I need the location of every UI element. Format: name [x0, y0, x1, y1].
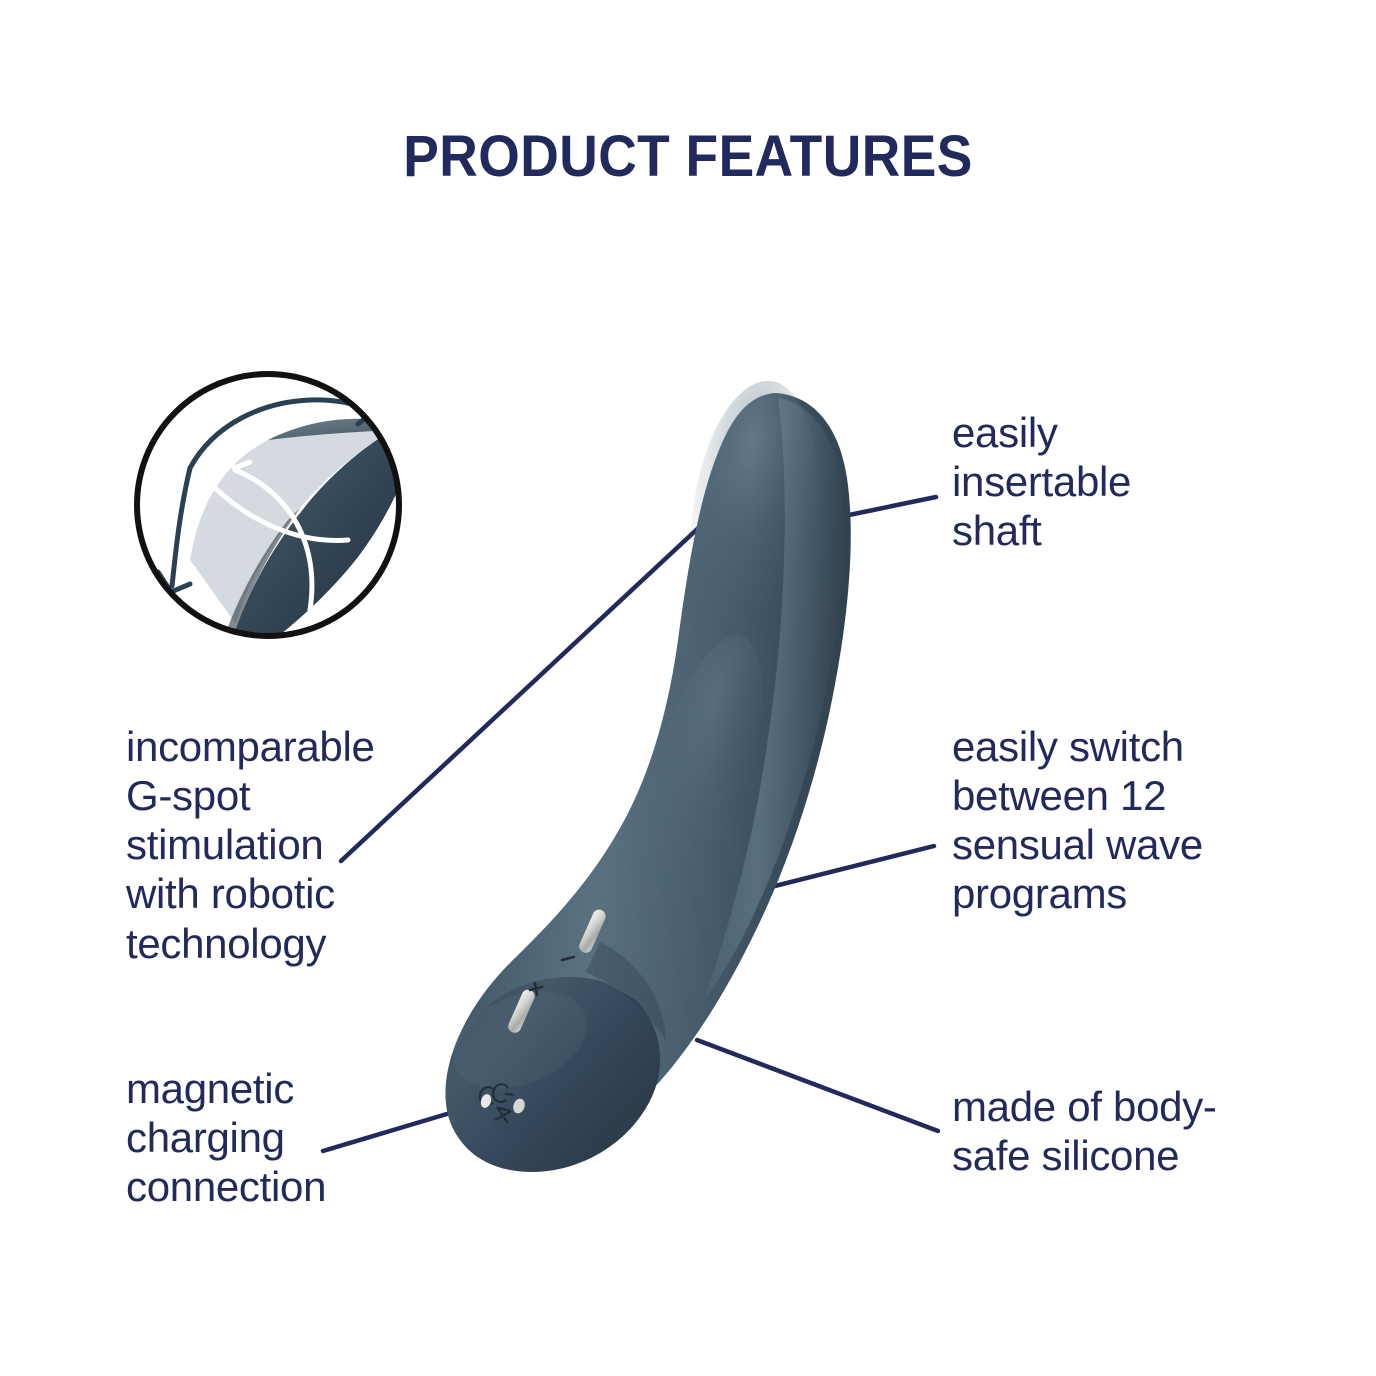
ce-mark-e: [491, 1082, 514, 1104]
sweep-arrow-down-head: [158, 572, 190, 592]
axis-motion-arrows: [192, 456, 348, 610]
product-base: [446, 977, 660, 1172]
minus-icon: [562, 957, 574, 960]
plus-icon-v: [535, 983, 537, 995]
product-shaft-highlight: [704, 398, 844, 1000]
leader-line-insertable-shaft: [820, 497, 936, 521]
callout-gspot-stimulation: incomparable G-spot stimulation with rob…: [126, 722, 456, 968]
plus-button[interactable]: [506, 988, 537, 1035]
charging-contact-left: [479, 1093, 493, 1109]
sweep-arrow-top-path: [190, 400, 372, 468]
callout-wave-programs: easily switch between 12 sensual wave pr…: [952, 722, 1282, 919]
callout-magnetic-charging: magnetic charging connection: [126, 1064, 436, 1211]
sweep-arrow-down-path: [172, 468, 190, 586]
axis-arrow-left-head: [192, 462, 218, 476]
infographic-canvas: PRODUCT FEATURES: [0, 0, 1376, 1376]
compliance-markings: [478, 1082, 515, 1122]
product-base-specular: [439, 973, 602, 1107]
control-button-labels: [530, 957, 574, 995]
leader-line-wave-programs: [600, 846, 934, 930]
tip-ghost-outline: [190, 419, 404, 624]
product-belly-specular: [613, 623, 788, 938]
control-buttons[interactable]: [506, 908, 608, 1035]
tip-edge-shadow: [212, 508, 300, 680]
minus-button[interactable]: [577, 908, 608, 955]
sweep-motion-arrows: [158, 396, 376, 592]
plus-icon-h: [530, 987, 542, 990]
waste-bin-icon: [495, 1108, 511, 1123]
callout-body-safe-silicone: made of body- safe silicone: [952, 1082, 1292, 1180]
leader-line-body-safe-silicone: [697, 1040, 938, 1131]
tip-solid-upper: [268, 419, 404, 440]
axis-arc-vertical: [235, 470, 312, 610]
sweep-arrow-top-head: [356, 396, 376, 424]
product-silhouette: [445, 393, 850, 1165]
robotic-tip-motion-detail: [136, 373, 418, 680]
axis-arc-horizontal: [202, 475, 348, 540]
product-tip-specular: [675, 373, 832, 666]
product-body: [439, 373, 851, 1172]
callout-insertable-shaft: easily insertable shaft: [952, 408, 1272, 555]
page-title: PRODUCT FEATURES: [55, 128, 1321, 186]
axis-arrow-up-head: [222, 456, 250, 468]
product-neck-shadow: [586, 942, 666, 1040]
tip-solid: [212, 424, 418, 680]
charging-contact-right: [511, 1097, 526, 1115]
detail-inset-ring: [137, 374, 399, 636]
ce-mark-c: [478, 1085, 496, 1106]
magnetic-charging-contacts: [479, 1093, 526, 1115]
